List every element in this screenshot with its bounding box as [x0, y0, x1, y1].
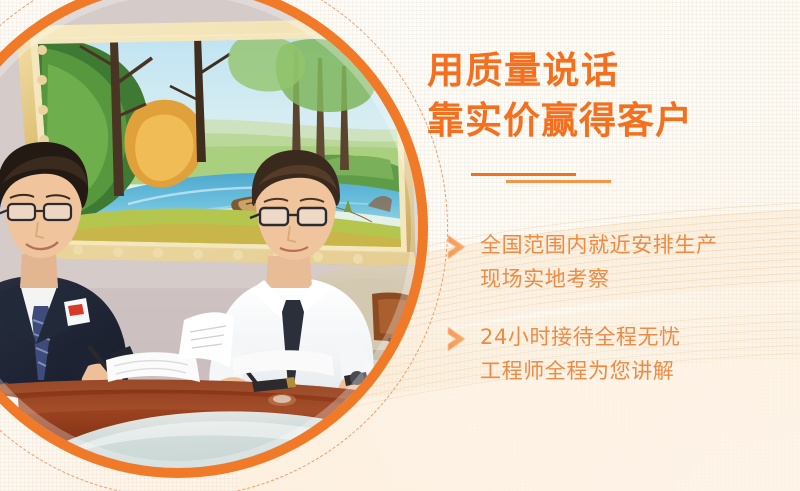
divider-line-bottom: [506, 180, 611, 183]
headline-divider: [427, 171, 647, 189]
feature-text-line-1: 24小时接待全程无忧: [480, 320, 799, 354]
headline-line-1: 用质量说话: [427, 48, 799, 94]
list-item: 全国范围内就近安排生产 现场实地考察: [427, 228, 799, 296]
content-column: 用质量说话 靠实价赢得客户: [415, 0, 800, 491]
headline-block: 用质量说话 靠实价赢得客户: [427, 48, 799, 144]
triangle-arrow-right-icon: [445, 233, 467, 261]
divider-line-top: [471, 173, 576, 176]
business-meeting-photo: [0, 0, 418, 468]
triangle-arrow-right-icon: [445, 325, 467, 353]
feature-text-line-2: 工程师全程为您讲解: [480, 354, 799, 388]
feature-list: 全国范围内就近安排生产 现场实地考察 24小时接待全: [427, 228, 799, 412]
list-item: 24小时接待全程无忧 工程师全程为您讲解: [427, 320, 799, 388]
feature-text-line-2: 现场实地考察: [480, 262, 799, 296]
headline-line-2: 靠实价赢得客户: [427, 98, 799, 144]
promo-banner: 用质量说话 靠实价赢得客户: [0, 0, 800, 491]
feature-text-line-1: 全国范围内就近安排生产: [480, 228, 799, 262]
